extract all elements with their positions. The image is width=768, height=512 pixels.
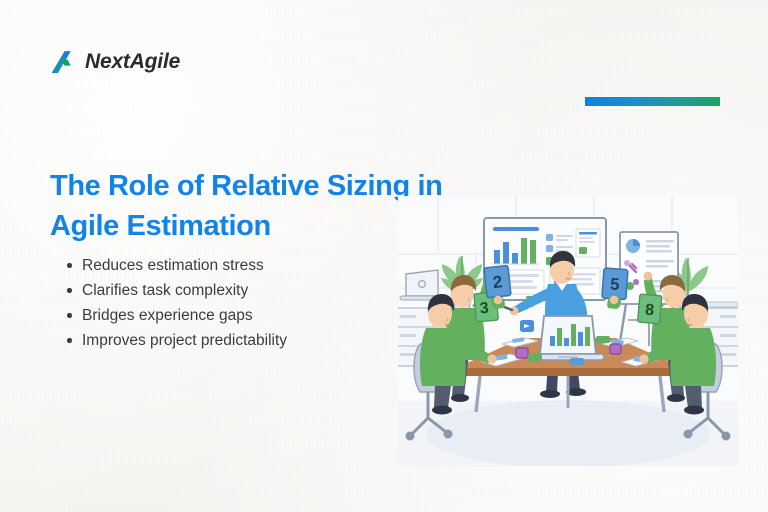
brand-name: NextAgile (85, 50, 180, 74)
list-item: Bridges experience gaps (64, 303, 394, 328)
svg-text:3: 3 (479, 300, 489, 318)
brand-logo[interactable]: NextAgile (48, 48, 180, 76)
list-item: Improves project predictability (64, 328, 394, 353)
planning-poker-scene-icon: 3 (398, 196, 738, 466)
planning-poker-illustration: 3 (398, 196, 738, 466)
list-item: Reduces estimation stress (64, 253, 394, 278)
table-laptop (532, 316, 604, 360)
svg-text:5: 5 (610, 274, 621, 294)
slide-canvas: NextAgile The Role of Relative Sizing in… (0, 0, 768, 512)
svg-text:8: 8 (644, 302, 654, 320)
benefits-list: Reduces estimation stress Clarifies task… (64, 253, 394, 353)
gradient-accent-bar (585, 97, 720, 106)
list-item: Clarifies task complexity (64, 278, 394, 303)
nextagile-arrow-mark-icon (48, 48, 76, 76)
svg-text:2: 2 (492, 272, 503, 292)
